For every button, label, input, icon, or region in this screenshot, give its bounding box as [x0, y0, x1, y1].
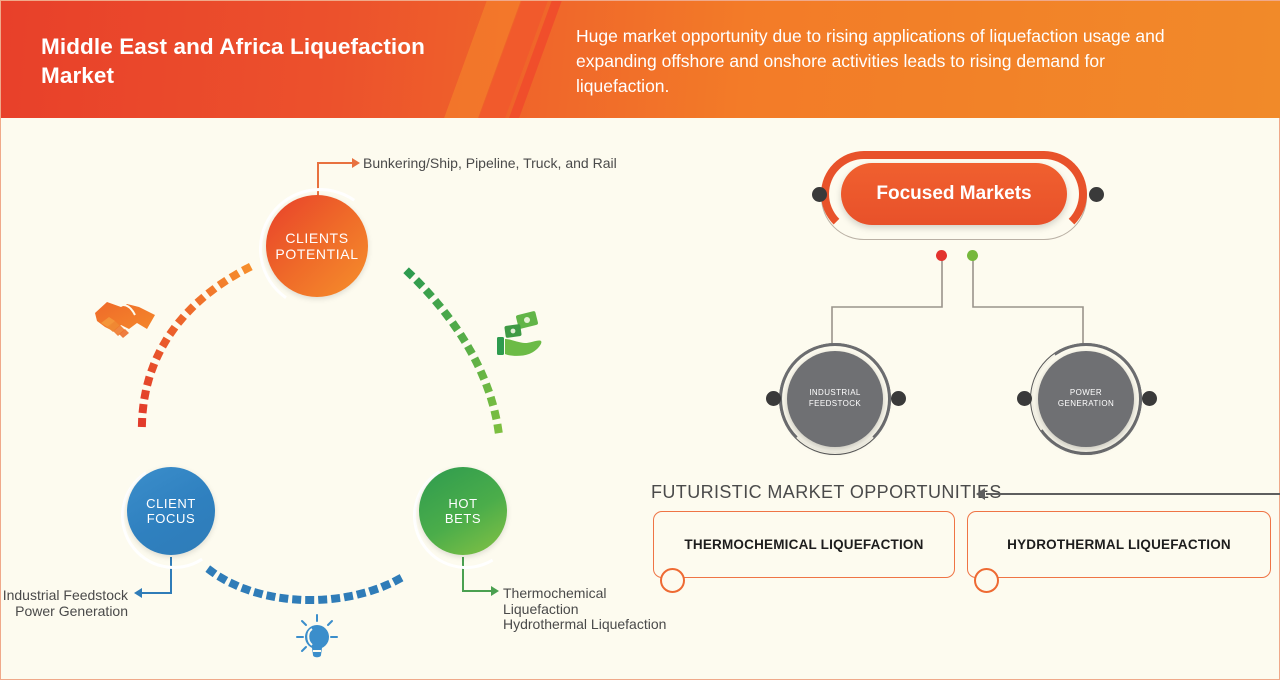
clients-potential-line1: CLIENTS [285, 230, 348, 246]
infographic-root: Middle East and Africa Liquefaction Mark… [0, 0, 1280, 680]
futuristic-box-thermochemical-label: THERMOCHEMICAL LIQUEFACTION [684, 537, 923, 552]
power-generation-line2: GENERATION [1058, 399, 1114, 410]
hot-bets-line2: BETS [445, 511, 481, 526]
handshake-icon [93, 293, 159, 345]
client-focus-callout-hline [142, 592, 172, 594]
clients-callout-label: Bunkering/Ship, Pipeline, Truck, and Rai… [363, 154, 617, 172]
node-clients-potential[interactable]: CLIENTS POTENTIAL [266, 195, 368, 297]
futuristic-arrow-line [986, 493, 1280, 495]
futuristic-arrowhead [976, 488, 985, 500]
focused-markets-label: Focused Markets [876, 183, 1031, 205]
futuristic-box-thermochemical[interactable]: THERMOCHEMICAL LIQUEFACTION [653, 511, 955, 578]
client-focus-line2: FOCUS [147, 511, 196, 526]
hot-bets-callout-arrowhead [491, 586, 499, 596]
node-hot-bets[interactable]: HOT BETS [419, 467, 507, 555]
node-power-generation[interactable]: POWER GENERATION [1038, 351, 1134, 447]
client-focus-callout-line2: Power Generation [0, 602, 128, 620]
industrial-feedstock-right-dot [891, 391, 906, 406]
hot-bets-callout-line3: Hydrothermal Liquefaction [503, 615, 666, 633]
futuristic-section-title: FUTURISTIC MARKET OPPORTUNITIES [651, 482, 1002, 503]
money-in-hand-icon [495, 309, 545, 361]
focused-markets-button[interactable]: Focused Markets [841, 163, 1067, 225]
lightbulb-icon [293, 613, 341, 663]
page-title: Middle East and Africa Liquefaction Mark… [41, 33, 491, 91]
focused-markets-right-dot [1089, 187, 1104, 202]
clients-callout-hline [317, 162, 353, 164]
blue-dotted-arc [201, 561, 416, 611]
focused-markets-left-dot [812, 187, 827, 202]
power-generation-left-dot [1017, 391, 1032, 406]
power-generation-right-dot [1142, 391, 1157, 406]
hot-bets-line1: HOT [448, 496, 477, 511]
power-generation-line1: POWER [1070, 388, 1102, 399]
header-banner: Middle East and Africa Liquefaction Mark… [1, 1, 1280, 118]
industrial-feedstock-left-dot [766, 391, 781, 406]
focused-markets-group: Focused Markets [809, 151, 1099, 243]
node-industrial-feedstock[interactable]: INDUSTRIAL FEEDSTOCK [787, 351, 883, 447]
hot-bets-callout-vline [462, 557, 464, 592]
clients-callout-arrowhead [352, 158, 360, 168]
industrial-feedstock-line1: INDUSTRIAL [809, 388, 861, 399]
client-focus-callout-vline [170, 557, 172, 593]
green-status-dot [967, 250, 978, 261]
futuristic-box-hydrothermal-knob [974, 568, 999, 593]
red-status-dot [936, 250, 947, 261]
futuristic-box-thermochemical-knob [660, 568, 685, 593]
industrial-feedstock-line2: FEEDSTOCK [809, 399, 861, 410]
futuristic-box-hydrothermal[interactable]: HYDROTHERMAL LIQUEFACTION [967, 511, 1271, 578]
hot-bets-callout-hline [462, 590, 492, 592]
header-subtitle: Huge market opportunity due to rising ap… [576, 24, 1176, 99]
client-focus-callout-arrowhead [134, 588, 142, 598]
node-client-focus[interactable]: CLIENT FOCUS [127, 467, 215, 555]
clients-potential-line2: POTENTIAL [275, 246, 358, 262]
client-focus-line1: CLIENT [146, 496, 196, 511]
futuristic-box-hydrothermal-label: HYDROTHERMAL LIQUEFACTION [1007, 537, 1231, 552]
